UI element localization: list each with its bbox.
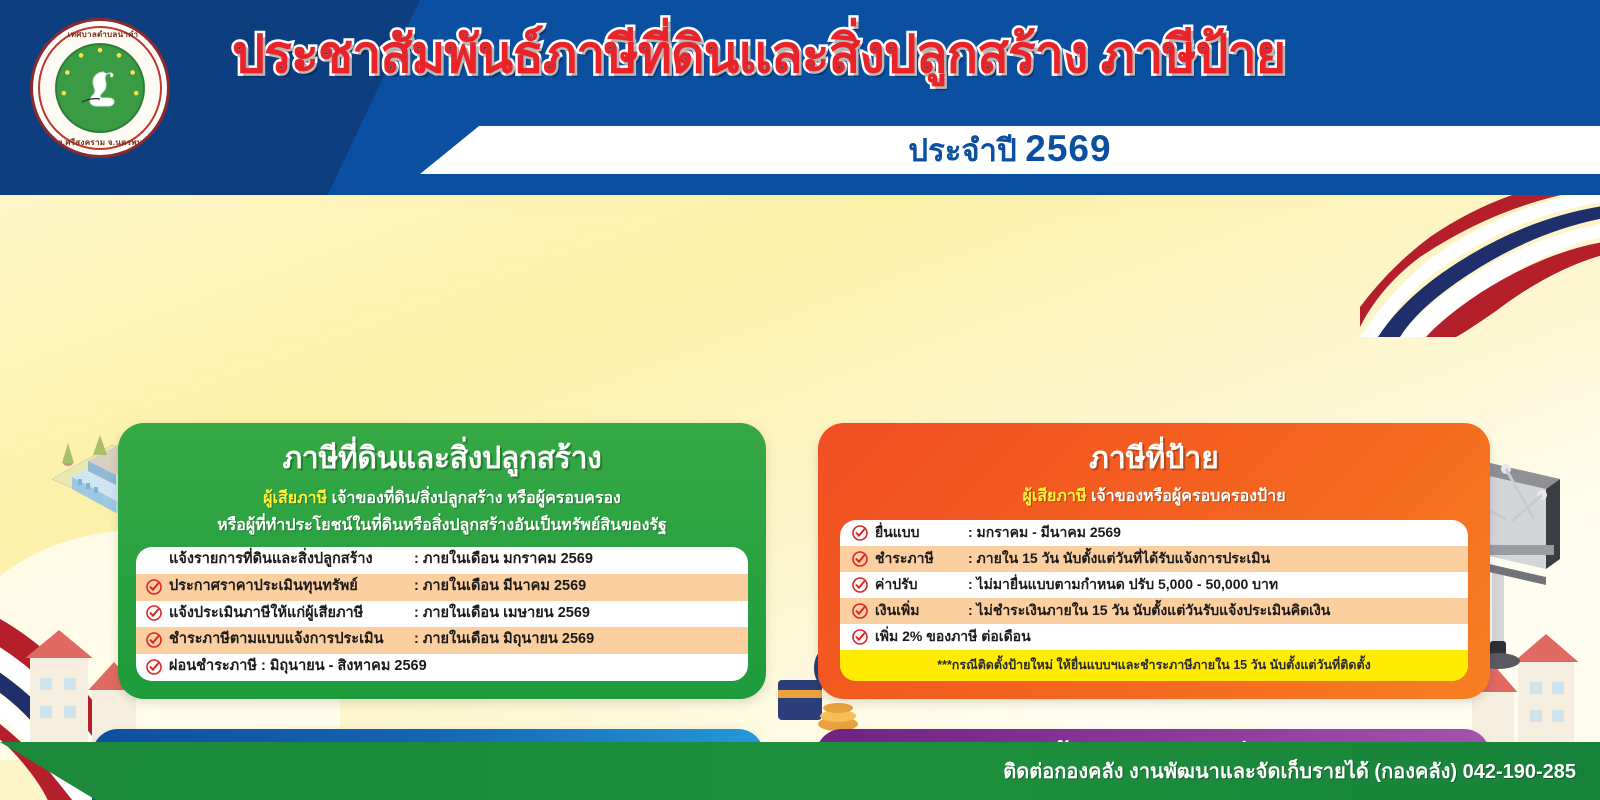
row-label: ยื่นแบบ: [875, 522, 961, 543]
year-band: ประจำปี 2569: [420, 126, 1600, 174]
seal-star-ring: [57, 45, 143, 131]
sign-tax-title: ภาษีที่ป้าย: [818, 435, 1490, 482]
page-footer: ติดต่อกองคลัง งานพัฒนาและจัดเก็บรายได้ (…: [0, 742, 1600, 800]
year-value: 2569: [1025, 128, 1111, 169]
land-tax-row-list: แจ้งรายการที่ดินและสิ่งปลูกสร้าง : ภายใน…: [136, 547, 748, 681]
row-value: : ภายใน 15 วัน นับตั้งแต่วันที่ได้รับแจ้…: [968, 548, 1270, 569]
row-label: เงินเพิ่ม: [875, 600, 961, 621]
row-label: ชำระภาษี: [875, 548, 961, 569]
land-tax-payer-tag: ผู้เสียภาษี: [263, 490, 327, 507]
table-row: เงินเพิ่ม : ไม่ชำระเงินภายใน 15 วัน นับต…: [840, 598, 1468, 624]
page-title: ประชาสัมพันธ์ภาษีที่ดินและสิ่งปลูกสร้าง …: [232, 28, 1592, 83]
seal-top-text: เทศบาลตำบลนาคำ: [33, 28, 170, 41]
row-label: แจ้งประเมินภาษีให้แก่ผู้เสียภาษี: [169, 603, 407, 625]
row-value: : ภายในเดือน มีนาคม 2569: [414, 576, 586, 598]
thai-flag-ribbon-top-right: [1360, 195, 1600, 337]
sign-tax-payer-tag: ผู้เสียภาษี: [1022, 488, 1086, 505]
row-value: : ภายในเดือน มกราคม 2569: [414, 549, 593, 571]
land-tax-panel: ภาษีที่ดินและสิ่งปลูกสร้าง ผู้เสียภาษี เ…: [118, 423, 766, 699]
table-row: ประกาศราคาประเมินทุนทรัพย์ : ภายในเดือน …: [136, 574, 748, 601]
row-value: : ไม่มายื่นแบบตามกำหนด ปรับ 5,000 - 50,0…: [968, 574, 1278, 595]
table-row: เพิ่ม 2% ของภาษี ต่อเดือน: [840, 624, 1468, 650]
check-icon: [146, 605, 162, 621]
table-row: แจ้งประเมินภาษีให้แก่ผู้เสียภาษี : ภายใน…: [136, 601, 748, 628]
page-header: เทศบาลตำบลนาคำ อ.ศรีสงคราม จ.นครพนม ประช…: [0, 0, 1600, 195]
row-label: ผ่อนชำระภาษี : มิถุนายน - สิงหาคม 2569: [169, 656, 427, 678]
table-row: ยื่นแบบ : มกราคม - มีนาคม 2569: [840, 520, 1468, 546]
seal-bottom-text: อ.ศรีสงคราม จ.นครพนม: [33, 136, 170, 149]
check-icon: [852, 603, 868, 619]
land-tax-payer-line: ผู้เสียภาษี เจ้าของที่ดิน/สิ่งปลูกสร้าง …: [118, 486, 766, 511]
check-icon: [852, 551, 868, 567]
table-row: ชำระภาษี : ภายใน 15 วัน นับตั้งแต่วันที่…: [840, 546, 1468, 572]
sign-tax-row-list: ยื่นแบบ : มกราคม - มีนาคม 2569 ชำระภาษี …: [840, 520, 1468, 681]
check-icon: [146, 579, 162, 595]
row-value: : ภายในเดือน มิถุนายน 2569: [414, 629, 594, 651]
table-row: ค่าปรับ : ไม่มายื่นแบบตามกำหนด ปรับ 5,00…: [840, 572, 1468, 598]
land-tax-payer-text: เจ้าของที่ดิน/สิ่งปลูกสร้าง หรือผู้ครอบค…: [332, 490, 621, 507]
sign-tax-payer-text: เจ้าของหรือผู้ครอบครองป้าย: [1091, 488, 1286, 505]
row-value: : ภายในเดือน เมษายน 2569: [414, 603, 590, 625]
row-label: ค่าปรับ: [875, 574, 961, 595]
row-label: ชำระภาษีตามแบบแจ้งการประเมิน: [169, 629, 407, 651]
land-tax-payer-text2: หรือผู้ที่ทำประโยชน์ในที่ดินหรือสิ่งปลูก…: [118, 513, 766, 538]
table-row: ชำระภาษีตามแบบแจ้งการประเมิน : ภายในเดือ…: [136, 627, 748, 654]
table-row: ผ่อนชำระภาษี : มิถุนายน - สิงหาคม 2569: [136, 654, 748, 681]
municipality-seal: เทศบาลตำบลนาคำ อ.ศรีสงคราม จ.นครพนม: [30, 18, 170, 158]
poster-body: ภาษีที่ดินและสิ่งปลูกสร้าง ผู้เสียภาษี เ…: [0, 195, 1600, 800]
row-label: ประกาศราคาประเมินทุนทรัพย์: [169, 576, 407, 598]
land-tax-title: ภาษีที่ดินและสิ่งปลูกสร้าง: [118, 435, 766, 482]
check-icon: [852, 525, 868, 541]
footer-contact: ติดต่อกองคลัง งานพัฒนาและจัดเก็บรายได้ (…: [1003, 755, 1600, 787]
row-label: แจ้งรายการที่ดินและสิ่งปลูกสร้าง: [169, 549, 407, 571]
table-row: แจ้งรายการที่ดินและสิ่งปลูกสร้าง : ภายใน…: [136, 547, 748, 574]
row-value: : มกราคม - มีนาคม 2569: [968, 522, 1121, 543]
sign-tax-payer-line: ผู้เสียภาษี เจ้าของหรือผู้ครอบครองป้าย: [818, 484, 1490, 509]
check-icon: [146, 632, 162, 648]
check-icon: [852, 577, 868, 593]
infographic-poster: เทศบาลตำบลนาคำ อ.ศรีสงคราม จ.นครพนม ประช…: [0, 0, 1600, 800]
row-value: : ไม่ชำระเงินภายใน 15 วัน นับตั้งแต่วันร…: [968, 600, 1330, 621]
row-label: เพิ่ม 2% ของภาษี ต่อเดือน: [875, 626, 1031, 647]
sign-tax-panel: ภาษีที่ป้าย ผู้เสียภาษี เจ้าของหรือผู้คร…: [818, 423, 1490, 699]
check-icon: [146, 659, 162, 675]
sign-tax-note: ***กรณีติดตั้งป้ายใหม่ ให้ยื่นแบบฯและชำร…: [840, 650, 1468, 681]
year-label: ประจำปี: [908, 133, 1016, 168]
check-icon: [852, 629, 868, 645]
year-text: ประจำปี 2569: [908, 125, 1111, 175]
